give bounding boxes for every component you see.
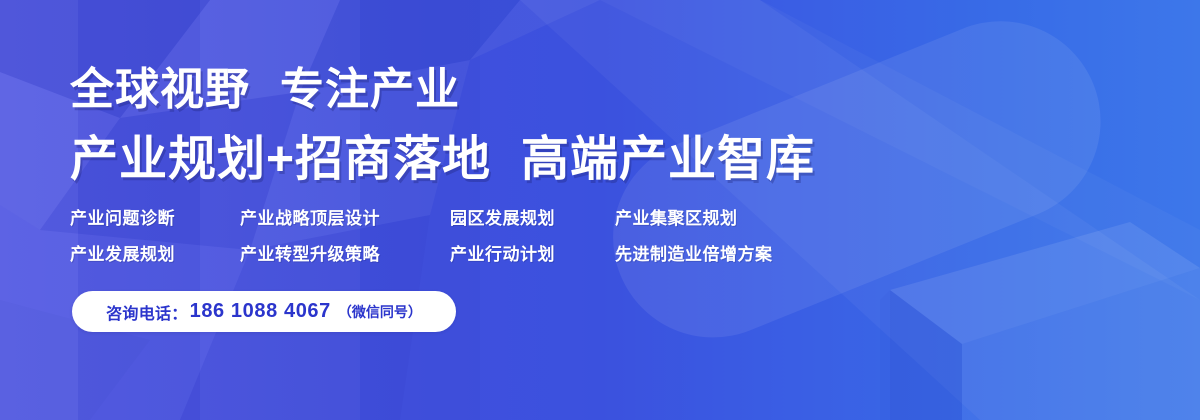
headline-secondary: 产业规划+招商落地高端产业智库: [70, 136, 815, 184]
service-item[interactable]: 先进制造业倍增方案: [615, 244, 773, 266]
contact-phone-pill[interactable]: 咨询电话： 186 1088 4067 （微信同号）: [72, 291, 456, 332]
headline-secondary-left: 产业规划+招商落地: [70, 133, 491, 186]
service-item[interactable]: 产业转型升级策略: [240, 244, 380, 266]
headline-primary: 全球视野专注产业: [70, 68, 460, 112]
promo-banner: 全球视野专注产业 产业规划+招商落地高端产业智库 产业问题诊断 产业战略顶层设计…: [0, 0, 1200, 420]
service-item[interactable]: 产业问题诊断: [70, 208, 175, 230]
banner-content: 全球视野专注产业 产业规划+招商落地高端产业智库 产业问题诊断 产业战略顶层设计…: [0, 0, 1200, 420]
service-list: 产业问题诊断 产业战略顶层设计 园区发展规划 产业集聚区规划 产业发展规划 产业…: [70, 208, 850, 280]
service-item[interactable]: 产业行动计划: [450, 244, 555, 266]
service-item[interactable]: 园区发展规划: [450, 208, 555, 230]
service-item[interactable]: 产业战略顶层设计: [240, 208, 380, 230]
service-item[interactable]: 产业集聚区规划: [615, 208, 738, 230]
service-row: 产业问题诊断 产业战略顶层设计 园区发展规划 产业集聚区规划: [70, 208, 850, 244]
contact-note: （微信同号）: [338, 302, 422, 322]
headline-secondary-right: 高端产业智库: [521, 133, 815, 186]
headline-primary-right: 专注产业: [280, 65, 460, 114]
service-row: 产业发展规划 产业转型升级策略 产业行动计划 先进制造业倍增方案: [70, 244, 850, 280]
contact-phone-number: 186 1088 4067: [190, 300, 331, 323]
headline-primary-left: 全球视野: [70, 65, 250, 114]
contact-label: 咨询电话：: [106, 300, 188, 324]
service-item[interactable]: 产业发展规划: [70, 244, 175, 266]
